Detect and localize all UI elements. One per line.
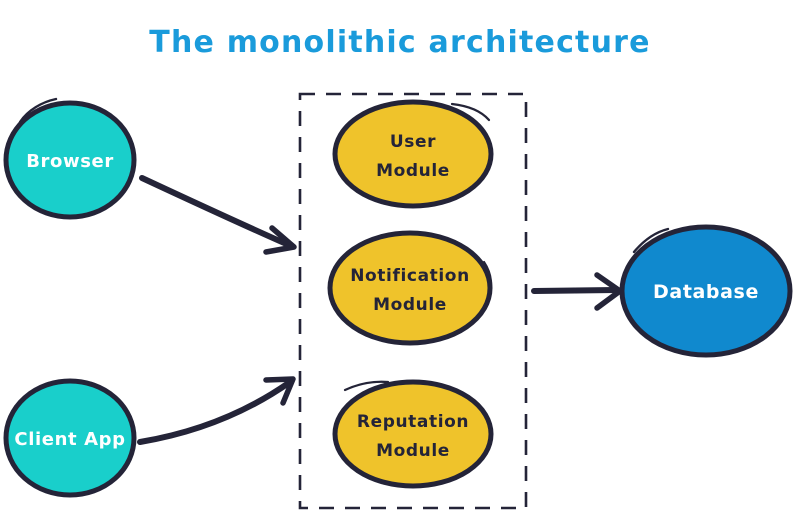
node-browser[interactable]: Browser: [6, 99, 134, 217]
node-database[interactable]: Database: [622, 227, 790, 355]
node-user-module[interactable]: User Module: [335, 102, 491, 206]
user-module-ellipse: [335, 102, 491, 206]
connection-monolith-to-database[interactable]: [534, 275, 620, 308]
architecture-diagram: The monolithic architecture Browser: [0, 0, 800, 530]
notification-module-ellipse: [330, 233, 490, 343]
notification-module-label-line1: Notification: [350, 266, 470, 286]
client-app-to-monolith-line: [140, 382, 290, 442]
database-label: Database: [653, 281, 759, 303]
node-reputation-module[interactable]: Reputation Module: [335, 382, 491, 486]
reputation-module-label-line2: Module: [376, 441, 450, 461]
user-module-label-line2: Module: [376, 161, 450, 181]
node-notification-module[interactable]: Notification Module: [330, 233, 491, 343]
connection-client-app-to-monolith[interactable]: [140, 379, 293, 442]
reputation-module-ellipse: [335, 382, 491, 486]
connection-browser-to-monolith[interactable]: [142, 178, 294, 252]
node-client-app[interactable]: Client App: [6, 381, 134, 495]
browser-label: Browser: [26, 151, 114, 172]
diagram-title: The monolithic architecture: [149, 25, 650, 60]
browser-to-monolith-line: [142, 178, 291, 246]
diagram-canvas: The monolithic architecture Browser: [0, 0, 800, 530]
client-app-label: Client App: [14, 429, 125, 450]
user-module-label-line1: User: [390, 132, 436, 152]
monolith-to-database-line: [534, 290, 616, 291]
notification-module-label-line2: Module: [373, 295, 447, 315]
reputation-module-label-line1: Reputation: [357, 412, 469, 432]
